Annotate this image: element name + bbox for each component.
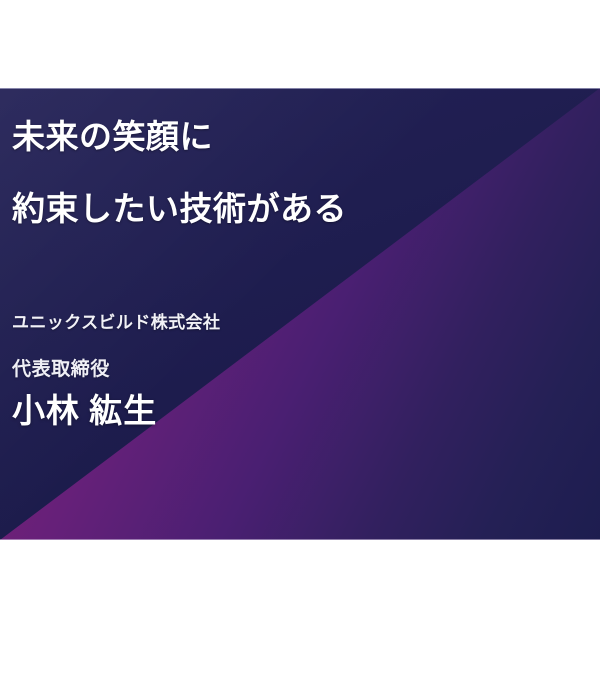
headline-line-2: 約束したい技術がある (12, 194, 347, 227)
person-name: 小林 紘生 (12, 396, 157, 429)
headline-line-1: 未来の笑顔に (12, 122, 213, 155)
company-name: ユニックスビルド株式会社 (12, 314, 220, 331)
hero-banner: 未来の笑顔に 約束したい技術がある ユニックスビルド株式会社 代表取締役 小林 … (0, 88, 600, 540)
person-role: 代表取締役 (12, 360, 110, 379)
hero-content: 未来の笑顔に 約束したい技術がある ユニックスビルド株式会社 代表取締役 小林 … (0, 88, 600, 540)
page-margin-bottom (0, 540, 600, 693)
page-root: 未来の笑顔に 約束したい技術がある ユニックスビルド株式会社 代表取締役 小林 … (0, 0, 600, 693)
page-margin-top (0, 0, 600, 88)
